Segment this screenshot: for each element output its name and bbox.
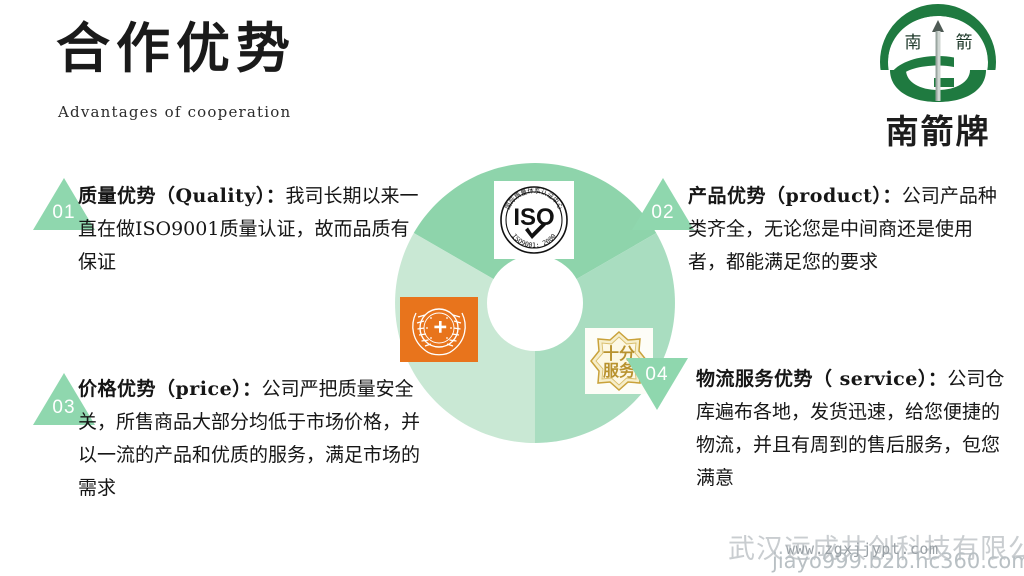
advantage-item-service: 物流服务优势（ service）：公司仓库遍布各地，发货迅速，给您便捷的物流，并…	[696, 363, 1012, 495]
brand-emblem-icon: 南 箭	[874, 4, 1002, 112]
emblem-char-left: 南	[905, 33, 922, 53]
watermark-shop-url: jiayo999.b2b.hc360.com	[772, 549, 1024, 573]
advantage-item-product: 产品优势（product）：公司产品种类齐全，无论您是中间商还是使用者，都能满足…	[688, 180, 1008, 279]
iso-main-text: ISO	[513, 204, 554, 231]
brand-logo: 南 箭 南箭牌	[870, 4, 1006, 160]
iso-certificate-badge: 国际质量体系认证中心 ISO9001: 2000 ISO	[494, 181, 574, 259]
organic-seal-icon	[400, 297, 478, 362]
watermark-site-url: www.zgxjjypt.com	[786, 540, 939, 558]
organic-certificate-badge	[400, 297, 478, 362]
number-badge-04: 04	[626, 358, 688, 410]
page-subtitle: Advantages of cooperation	[58, 103, 291, 121]
emblem-char-right: 箭	[956, 33, 973, 53]
advantage-title: 质量优势（Quality）：	[78, 185, 285, 207]
number-badge-02: 02	[632, 178, 694, 230]
watermark-company: 武汉远成共创科技有限公司	[728, 527, 1024, 566]
advantage-item-quality: 质量优势（Quality）：我司长期以来一直在做ISO9001质量认证，故而品质…	[78, 180, 428, 279]
donut-hole	[487, 255, 583, 351]
page-title: 合作优势	[56, 16, 296, 80]
number-badge-label: 02	[632, 202, 694, 224]
advantage-title: 价格优势（price）：	[78, 378, 262, 400]
iso-seal-icon: 国际质量体系认证中心 ISO9001: 2000 ISO	[494, 181, 574, 259]
number-badge-label: 04	[626, 364, 688, 386]
advantage-title: 物流服务优势（ service）：	[696, 368, 947, 390]
advantage-title: 产品优势（product）：	[688, 185, 902, 207]
advantage-item-price: 价格优势（price）：公司严把质量安全关，所售商品大部分均低于市场价格，并以一…	[78, 373, 430, 505]
brand-name: 南箭牌	[870, 112, 1006, 152]
